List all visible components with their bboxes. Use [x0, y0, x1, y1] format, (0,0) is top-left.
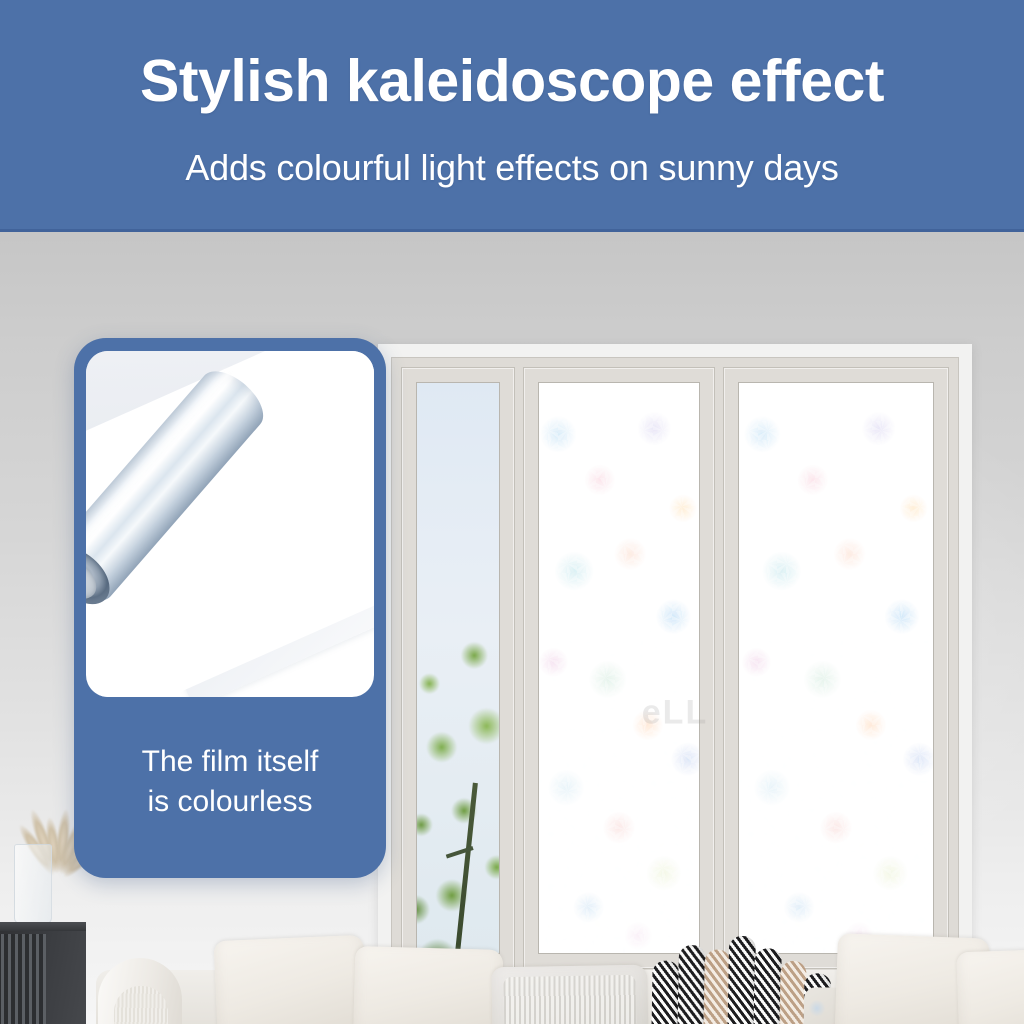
kaleidoscope-film-texture [539, 383, 699, 953]
glass-vase [14, 844, 52, 924]
banner-title: Stylish kaleidoscope effect [140, 52, 884, 111]
header-banner: Stylish kaleidoscope effect Adds colourf… [0, 0, 1024, 232]
tree-foliage [416, 606, 500, 954]
card-caption-line-2: is colourless [92, 782, 368, 822]
sofa-cushion [214, 935, 369, 1024]
cabinet [0, 922, 86, 1024]
clear-glass [416, 382, 500, 954]
window-panel-middle-film [523, 367, 715, 969]
sofa-cushion [956, 948, 1024, 1024]
sofa-cushion [353, 946, 504, 1024]
window-panel-left-clear [401, 367, 515, 969]
card-caption: The film itself is colourless [74, 742, 386, 821]
film-glass-middle [538, 382, 700, 954]
film-glass-right [738, 382, 934, 954]
card-caption-line-1: The film itself [92, 742, 368, 782]
cabinet-top [0, 922, 86, 931]
film-roll-photo [86, 351, 374, 697]
cushion-rib-texture [503, 975, 636, 1024]
kaleidoscope-film-texture [739, 383, 933, 953]
banner-subtitle: Adds colourful light effects on sunny da… [185, 147, 838, 189]
sofa-arm-left [98, 958, 182, 1024]
window-frame-inner [391, 357, 959, 979]
sofa-cushion [491, 965, 649, 1024]
cabinet-slats [0, 934, 46, 1024]
throw-blanket [647, 934, 845, 1024]
window-panel-right-film [723, 367, 949, 969]
feature-card: The film itself is colourless [74, 338, 386, 878]
sofa-arm-texture [114, 986, 168, 1024]
sofa [96, 944, 1024, 1024]
window: eLL [378, 344, 972, 992]
